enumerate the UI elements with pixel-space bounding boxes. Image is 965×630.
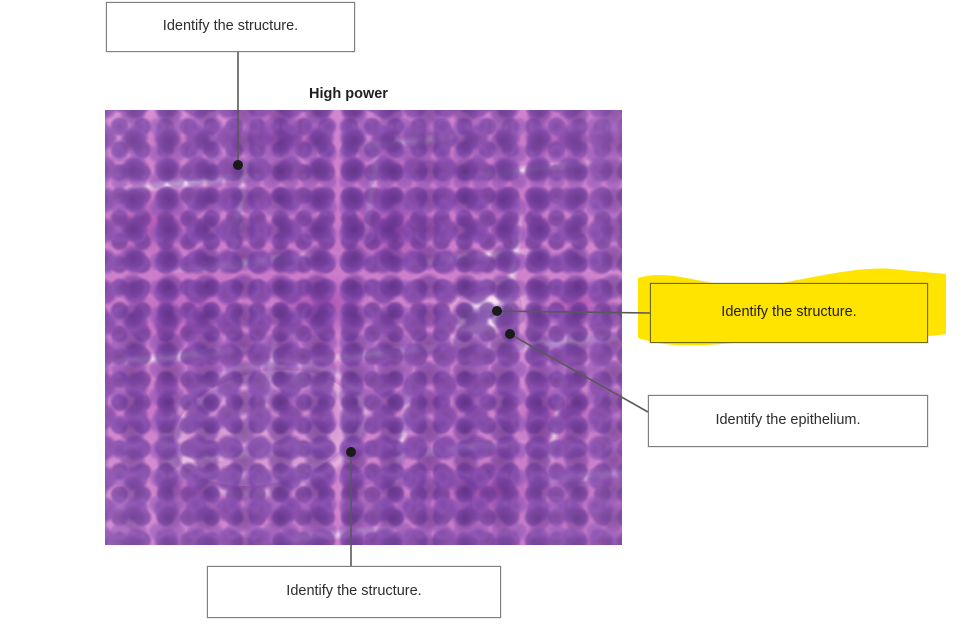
callout-box-top[interactable]: Identify the structure. bbox=[106, 2, 355, 52]
callout-text: Identify the structure. bbox=[721, 304, 856, 321]
vignette-overlay bbox=[105, 110, 622, 545]
histology-micrograph bbox=[105, 110, 622, 545]
figure-caption: High power bbox=[309, 86, 388, 102]
annotated-histology-figure: High power Ident bbox=[0, 0, 965, 630]
callout-text: Identify the structure. bbox=[286, 583, 421, 600]
callout-box-right-structure[interactable]: Identify the structure. bbox=[650, 283, 928, 343]
callout-text: Identify the structure. bbox=[163, 18, 298, 35]
callout-box-epithelium[interactable]: Identify the epithelium. bbox=[648, 395, 928, 447]
callout-box-bottom[interactable]: Identify the structure. bbox=[207, 566, 501, 618]
callout-text: Identify the epithelium. bbox=[715, 412, 860, 429]
